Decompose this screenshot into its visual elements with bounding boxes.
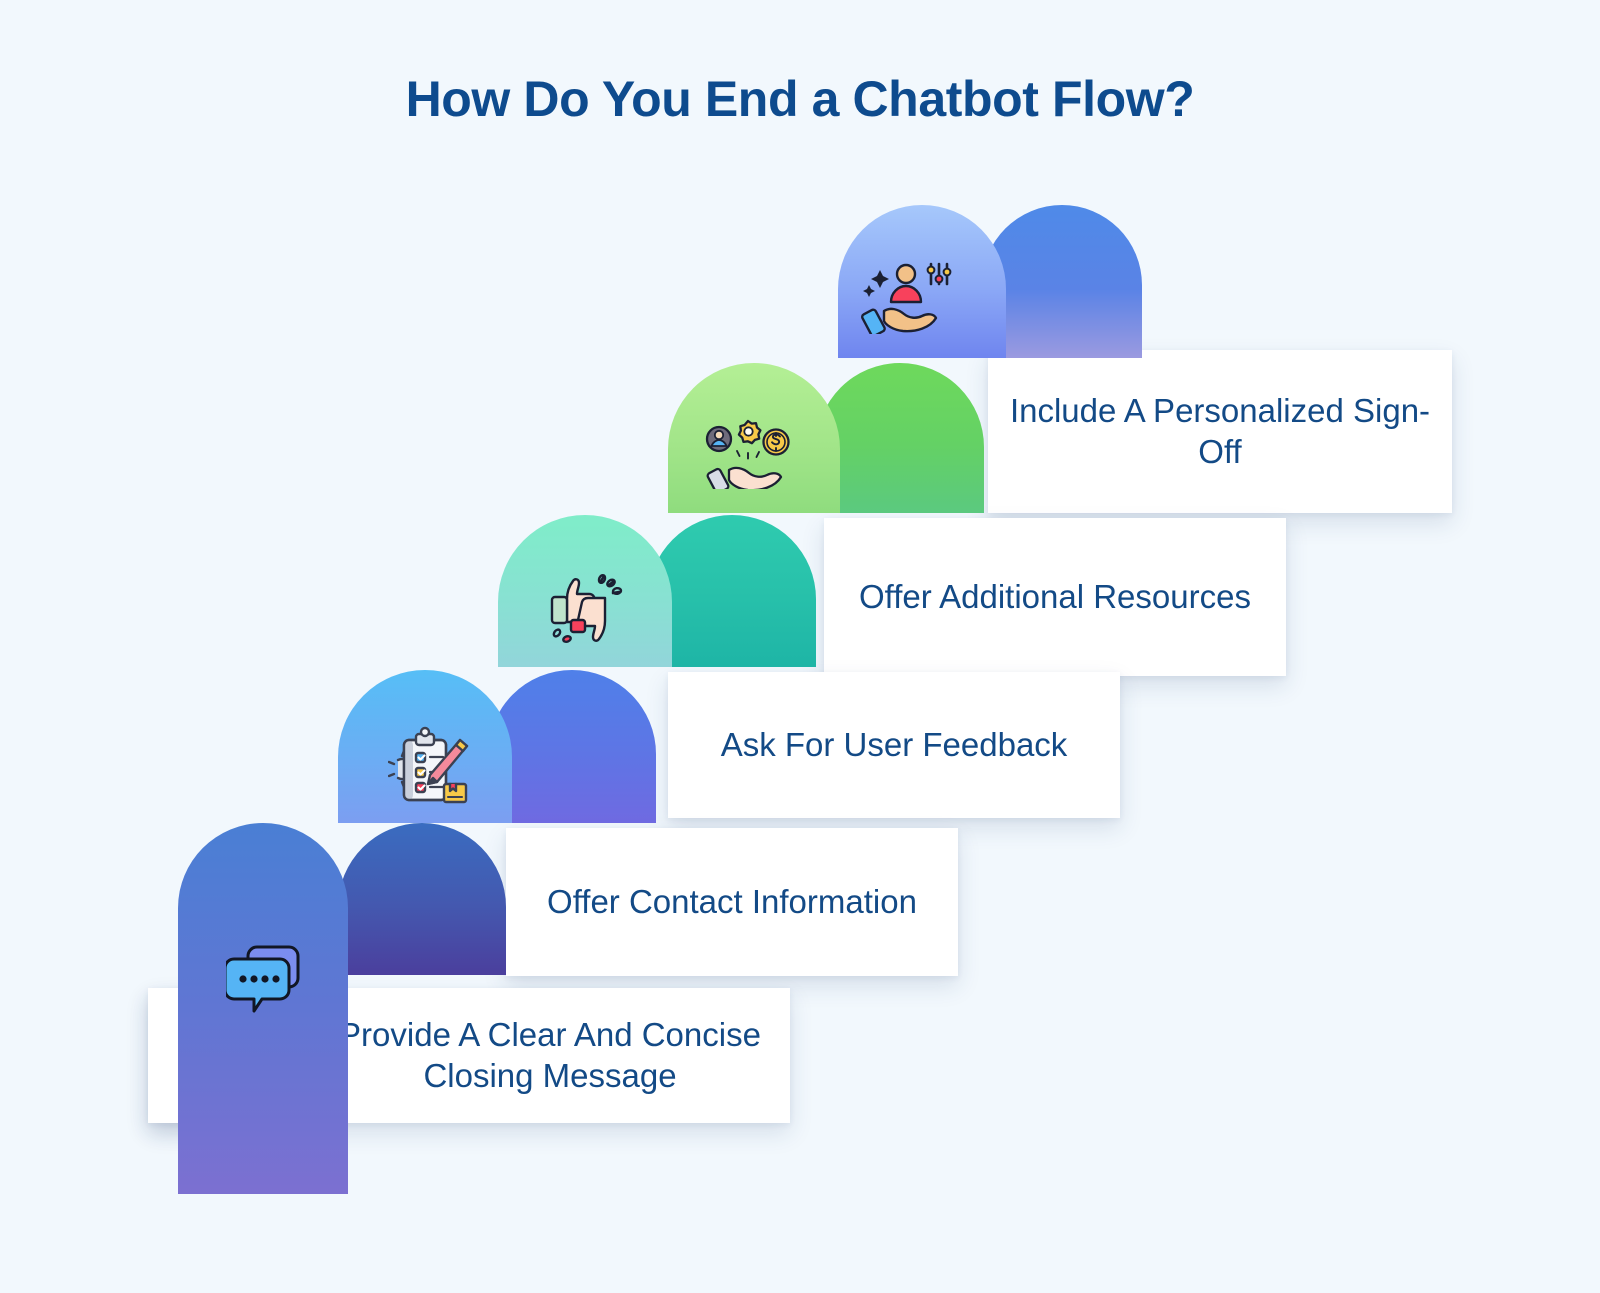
step-4-label: Offer Contact Information xyxy=(529,882,935,922)
step-1-arch-back xyxy=(982,205,1142,358)
step-2-panel: Offer Additional Resources xyxy=(824,518,1286,676)
step-4-arch-back xyxy=(488,670,656,823)
chat-bubbles-icon xyxy=(226,943,306,1017)
step-2-icon xyxy=(700,412,796,496)
clipboard-checklist-pencil-icon xyxy=(388,726,472,806)
infographic-stage: How Do You End a Chatbot Flow? Include A… xyxy=(0,0,1600,1293)
step-2-label: Offer Additional Resources xyxy=(841,577,1269,617)
page-title: How Do You End a Chatbot Flow? xyxy=(0,72,1600,127)
step-5-icon xyxy=(218,938,314,1022)
step-4-icon xyxy=(382,724,478,808)
step-1-icon xyxy=(858,252,954,336)
step-3-panel: Ask For User Feedback xyxy=(668,672,1120,818)
step-3-icon xyxy=(538,568,634,652)
step-3-label: Ask For User Feedback xyxy=(703,725,1086,765)
step-4-panel: Offer Contact Information xyxy=(506,828,958,976)
step-5-arch-back xyxy=(338,823,506,975)
hand-holding-personalized-user-icon xyxy=(860,254,952,334)
thumbs-up-down-icon xyxy=(545,571,627,649)
step-3-arch-back xyxy=(648,515,816,667)
step-2-arch-back xyxy=(816,363,984,513)
step-1-panel: Include A Personalized Sign-Off xyxy=(988,350,1452,513)
step-1-label: Include A Personalized Sign-Off xyxy=(988,391,1452,472)
hand-holding-user-gear-coin-icon xyxy=(704,419,792,489)
